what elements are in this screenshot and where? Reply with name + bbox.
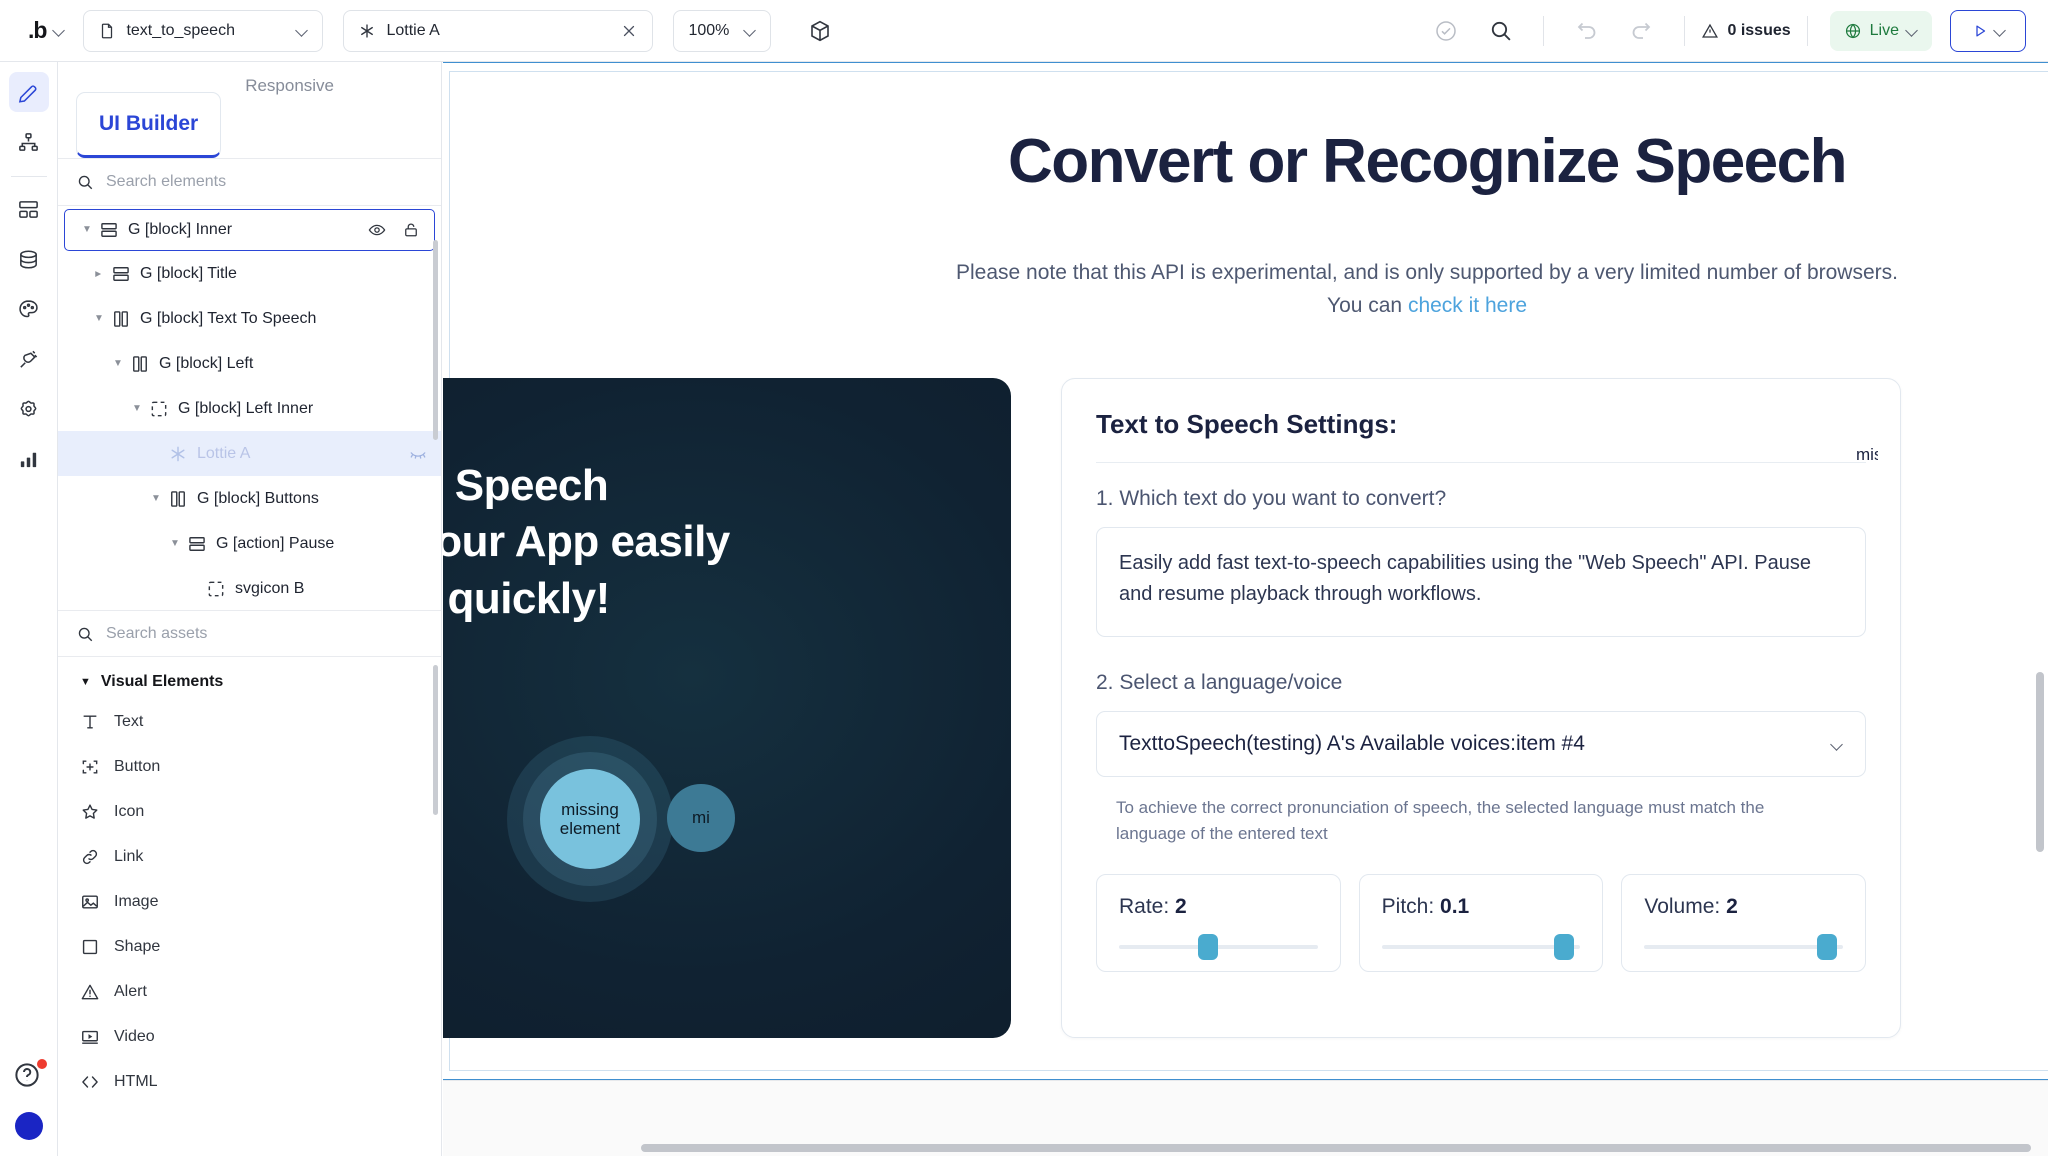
- chevron-down-icon[interactable]: [1832, 739, 1843, 750]
- asset-item-button[interactable]: Button: [58, 744, 441, 789]
- promo-dark-card: Add Speech to your App easily and quickl…: [443, 378, 1011, 1038]
- eye-off-icon[interactable]: [409, 445, 427, 463]
- search-icon: [76, 173, 94, 191]
- slider-value: 0.1: [1440, 895, 1469, 918]
- slider-group: Rate: 2Pitch: 0.1Volume: 2: [1096, 874, 1866, 972]
- slider-name: Rate:: [1119, 895, 1169, 918]
- slider-volume[interactable]: Volume: 2: [1621, 874, 1866, 972]
- slider-track[interactable]: [1644, 945, 1843, 949]
- rail-item-palette[interactable]: [9, 289, 49, 329]
- assets-group-header[interactable]: ▼ Visual Elements: [58, 663, 441, 699]
- tree-item-g-action-pause[interactable]: ▼G [action] Pause: [58, 521, 441, 566]
- asset-item-shape[interactable]: Shape: [58, 924, 441, 969]
- chevron-down-icon[interactable]: [1907, 25, 1918, 36]
- blob-right: mi: [667, 784, 735, 852]
- tree-caret-icon[interactable]: ▼: [91, 314, 107, 324]
- chevron-down-icon[interactable]: [1995, 25, 2006, 36]
- top-toolbar: .b text_to_speech Lottie A 100%: [0, 0, 2048, 62]
- artboard[interactable]: Convert or Recognize Speech Please note …: [443, 62, 2048, 1080]
- slider-label: Volume: 2: [1644, 895, 1843, 919]
- file-selector[interactable]: text_to_speech: [83, 10, 323, 52]
- slider-value: 2: [1175, 895, 1187, 918]
- convert-text-textarea[interactable]: Easily add fast text-to-speech capabilit…: [1096, 527, 1866, 637]
- blob-center: missing element: [540, 769, 640, 869]
- tree-item-label: Lottie A: [197, 445, 250, 463]
- asset-item-label: Video: [114, 1028, 155, 1046]
- asset-item-image[interactable]: Image: [58, 879, 441, 924]
- cube-3d-icon[interactable]: [805, 16, 835, 46]
- rail-item-plug[interactable]: [9, 339, 49, 379]
- asset-item-label: Shape: [114, 938, 160, 956]
- eye-icon[interactable]: [368, 221, 386, 239]
- asset-item-icon[interactable]: Icon: [58, 789, 441, 834]
- settings-title: Text to Speech Settings:: [1096, 409, 1866, 440]
- divider: [1096, 462, 1866, 463]
- slider-rate[interactable]: Rate: 2: [1096, 874, 1341, 972]
- play-icon: [1971, 22, 1989, 40]
- question-1-label: 1. Which text do you want to convert?: [1096, 487, 1866, 511]
- assets-scrollbar[interactable]: [433, 665, 438, 815]
- file-icon: [98, 22, 116, 40]
- asset-item-link[interactable]: Link: [58, 834, 441, 879]
- rail-item-settings[interactable]: [9, 389, 49, 429]
- search-assets-row[interactable]: Search assets: [58, 610, 441, 657]
- slider-thumb[interactable]: [1554, 934, 1574, 960]
- chevron-down-icon: ▼: [80, 676, 91, 688]
- tree-caret-icon[interactable]: ▼: [129, 404, 145, 414]
- asset-item-label: Image: [114, 893, 158, 911]
- tree-item-label: G [block] Text To Speech: [140, 310, 316, 328]
- tree-item-label: G [block] Left: [159, 355, 253, 373]
- rail-item-analytics[interactable]: [9, 439, 49, 479]
- divider: [11, 176, 47, 177]
- block-rows-icon: [99, 220, 119, 240]
- tree-caret-icon[interactable]: ▼: [110, 359, 126, 369]
- check-circle-icon[interactable]: [1431, 16, 1461, 46]
- asterisk-icon: [168, 444, 188, 464]
- promo-heading: Add Speech to your App easily and quickl…: [443, 378, 1011, 627]
- search-icon[interactable]: [1485, 16, 1515, 46]
- code-icon: [80, 1072, 100, 1092]
- tree-caret-icon[interactable]: ▼: [167, 539, 183, 549]
- language-hint: To achieve the correct pronunciation of …: [1116, 795, 1836, 848]
- rail-bottom-group: [12, 1060, 46, 1156]
- question-2-label: 2. Select a language/voice: [1096, 671, 1866, 695]
- block-cols-icon: [168, 489, 188, 509]
- search-elements-row[interactable]: Search elements: [58, 159, 441, 206]
- slider-pitch[interactable]: Pitch: 0.1: [1359, 874, 1604, 972]
- tree-item-g-block-left-inner[interactable]: ▼G [block] Left Inner: [58, 386, 441, 431]
- tree-item-g-block-text-to-speech[interactable]: ▼G [block] Text To Speech: [58, 296, 441, 341]
- tree-item-lottie-a[interactable]: Lottie A: [58, 431, 441, 476]
- chevron-down-icon[interactable]: [297, 25, 308, 36]
- tts-settings-card: Text to Speech Settings: 1. Which text d…: [1061, 378, 1901, 1038]
- warning-icon: [1701, 22, 1719, 40]
- slider-label: Rate: 2: [1119, 895, 1318, 919]
- tree-caret-icon[interactable]: ▼: [79, 225, 95, 235]
- voice-select[interactable]: TexttoSpeech(testing) A's Available voic…: [1096, 711, 1866, 777]
- slider-track[interactable]: [1382, 945, 1581, 949]
- avatar[interactable]: [15, 1112, 43, 1140]
- divider: [1807, 16, 1808, 46]
- search-assets-input[interactable]: Search assets: [106, 625, 207, 643]
- rail-item-layout[interactable]: [9, 189, 49, 229]
- tree-item-g-block-buttons[interactable]: ▼G [block] Buttons: [58, 476, 441, 521]
- live-label: Live: [1870, 22, 1899, 40]
- tree-item-g-block-title[interactable]: ▼G [block] Title: [58, 251, 441, 296]
- file-name: text_to_speech: [126, 22, 235, 40]
- missing-element-note: mis: [1856, 445, 1878, 465]
- undo-icon[interactable]: [1572, 16, 1602, 46]
- issues-label: 0 issues: [1727, 22, 1790, 40]
- slider-name: Pitch:: [1382, 895, 1435, 918]
- live-status-dropdown[interactable]: Live: [1830, 11, 1932, 51]
- button-plus-icon: [80, 757, 100, 777]
- asterisk-icon: [358, 22, 376, 40]
- app-logo-menu[interactable]: .b: [28, 17, 65, 44]
- tree-caret-icon[interactable]: ▼: [91, 269, 107, 279]
- tree-item-svgicon-b[interactable]: svgicon B: [58, 566, 441, 610]
- link-icon: [80, 847, 100, 867]
- zoom-selector[interactable]: 100%: [673, 10, 771, 52]
- rail-item-database[interactable]: [9, 239, 49, 279]
- tree-item-label: G [block] Title: [140, 265, 237, 283]
- block-rows-icon: [187, 534, 207, 554]
- tab-responsive[interactable]: Responsive: [245, 76, 334, 158]
- tree-caret-icon[interactable]: ▼: [148, 494, 164, 504]
- image-icon: [80, 892, 100, 912]
- asset-item-video[interactable]: Video: [58, 1014, 441, 1059]
- star-icon: [80, 802, 100, 822]
- left-panel: UI Builder Responsive Search elements ▼G…: [58, 62, 442, 1156]
- slider-value: 2: [1726, 895, 1738, 918]
- globe-icon: [1844, 22, 1862, 40]
- tab-label: Lottie A: [386, 22, 439, 40]
- asset-item-label: Alert: [114, 983, 147, 1001]
- tree-scrollbar[interactable]: [433, 240, 438, 440]
- block-rows-icon: [111, 264, 131, 284]
- assets-list: ▼ Visual Elements TextButtonIconLinkImag…: [58, 657, 441, 1156]
- rail-item-pencil[interactable]: [9, 72, 49, 112]
- zoom-level: 100%: [688, 22, 729, 40]
- chevron-down-icon[interactable]: [745, 25, 756, 36]
- video-icon: [80, 1027, 100, 1047]
- divider: [1543, 16, 1544, 46]
- tree-item-label: G [action] Pause: [216, 535, 334, 553]
- slider-thumb[interactable]: [1817, 934, 1837, 960]
- text-t-icon: [80, 712, 100, 732]
- tree-item-label: G [block] Left Inner: [178, 400, 313, 418]
- left-icon-rail: [0, 62, 58, 1156]
- unlock-icon[interactable]: [402, 221, 420, 239]
- tree-item-g-block-left[interactable]: ▼G [block] Left: [58, 341, 441, 386]
- square-icon: [80, 937, 100, 957]
- tab-ui-builder[interactable]: UI Builder: [76, 92, 221, 158]
- dashed-box-icon: [149, 399, 169, 419]
- slider-track[interactable]: [1119, 945, 1318, 949]
- element-tree: ▼G [block] Inner▼G [block] Title▼G [bloc…: [58, 206, 441, 610]
- help-button[interactable]: [12, 1060, 46, 1094]
- alert-triangle-icon: [80, 982, 100, 1002]
- canvas-vertical-scrollbar[interactable]: [2036, 672, 2044, 852]
- tree-item-label: G [block] Inner: [128, 221, 232, 239]
- canvas-horizontal-scrollbar[interactable]: [641, 1144, 2031, 1152]
- asset-item-text[interactable]: Text: [58, 699, 441, 744]
- open-tab-lottie-a[interactable]: Lottie A: [343, 10, 653, 52]
- tree-item-label: svgicon B: [235, 580, 304, 598]
- search-elements-input[interactable]: Search elements: [106, 173, 226, 191]
- asset-item-html[interactable]: HTML: [58, 1059, 441, 1104]
- slider-thumb[interactable]: [1198, 934, 1218, 960]
- asset-item-label: Text: [114, 713, 143, 731]
- toolbar-right-group: 0 issues Live: [1419, 10, 2030, 52]
- asset-item-label: HTML: [114, 1073, 158, 1091]
- app-logo: .b: [28, 17, 46, 44]
- lottie-animation-placeholder: mi missing element mi: [443, 736, 1011, 926]
- design-canvas[interactable]: Convert or Recognize Speech Please note …: [443, 62, 2048, 1156]
- rail-item-sitemap[interactable]: [9, 122, 49, 162]
- asset-item-alert[interactable]: Alert: [58, 969, 441, 1014]
- asset-item-label: Button: [114, 758, 160, 776]
- redo-icon[interactable]: [1626, 16, 1656, 46]
- run-preview-button[interactable]: [1950, 10, 2026, 52]
- tree-item-label: G [block] Buttons: [197, 490, 319, 508]
- dashed-box-icon: [206, 579, 226, 599]
- chevron-down-icon[interactable]: [54, 25, 65, 36]
- close-icon[interactable]: [620, 22, 638, 40]
- panel-tabs: UI Builder Responsive: [58, 62, 441, 159]
- issues-indicator[interactable]: 0 issues: [1701, 22, 1790, 40]
- block-cols-icon: [111, 309, 131, 329]
- tree-item-g-block-inner[interactable]: ▼G [block] Inner: [64, 209, 435, 251]
- asset-item-label: Icon: [114, 803, 144, 821]
- asset-item-label: Link: [114, 848, 143, 866]
- assets-group-label: Visual Elements: [101, 673, 223, 691]
- tree-item-actions: [368, 221, 434, 239]
- divider: [1684, 16, 1685, 46]
- slider-label: Pitch: 0.1: [1382, 895, 1581, 919]
- tree-item-actions: [409, 445, 441, 463]
- voice-select-value: TexttoSpeech(testing) A's Available voic…: [1119, 732, 1585, 756]
- slider-name: Volume:: [1644, 895, 1720, 918]
- block-cols-icon: [130, 354, 150, 374]
- search-icon: [76, 625, 94, 643]
- help-notification-dot: [37, 1059, 47, 1069]
